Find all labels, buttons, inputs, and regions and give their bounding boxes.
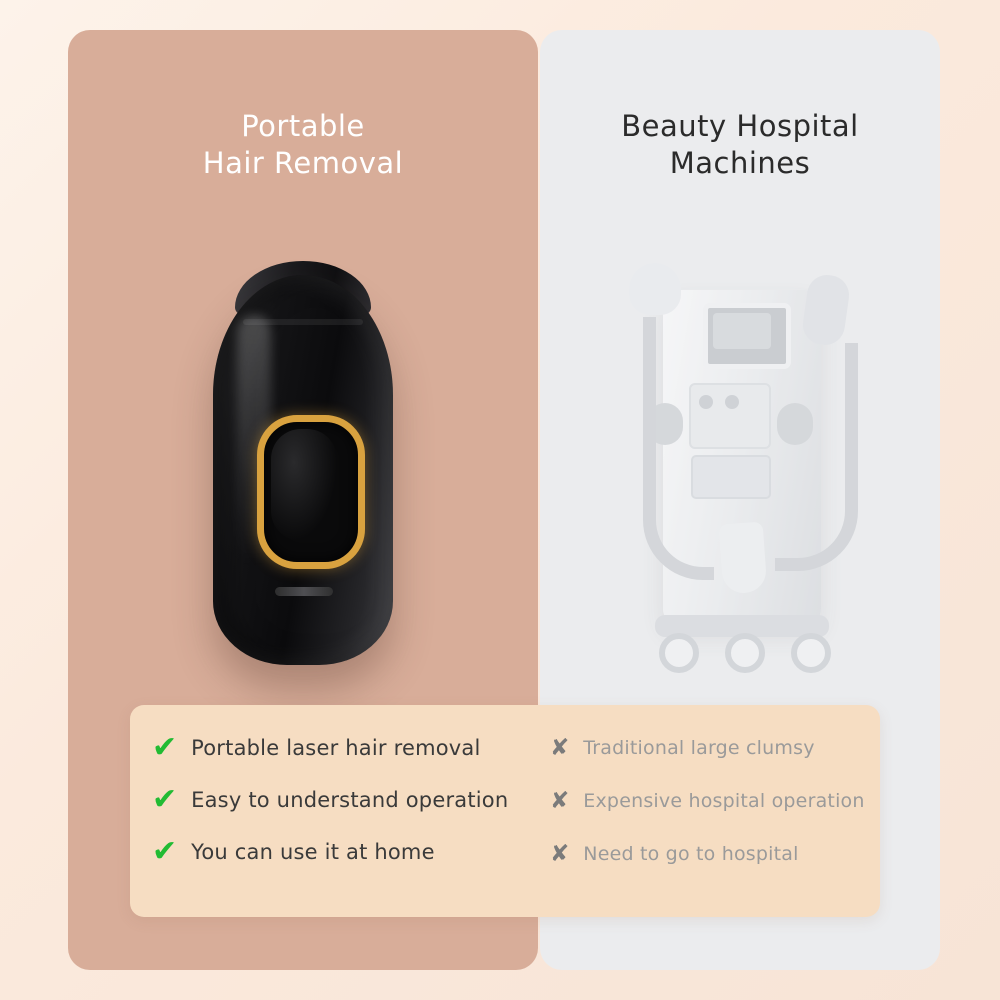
device-flash-window [271, 429, 337, 541]
cross-icon: ✘ [550, 843, 569, 866]
hospital-machine-image [625, 255, 855, 675]
pro-item-2-label: Easy to understand operation [191, 788, 508, 812]
left-title-line-1: Portable [68, 108, 538, 145]
con-item-3-label: Need to go to hospital [583, 843, 798, 865]
check-icon: ✔ [152, 837, 177, 867]
infographic-canvas: Portable Hair Removal Beauty Hospital Ma… [0, 0, 1000, 1000]
right-title-line-2: Machines [540, 145, 940, 182]
con-item-2-label: Expensive hospital operation [583, 790, 864, 812]
pro-item-1-label: Portable laser hair removal [191, 736, 480, 760]
pro-item-3: ✔ You can use it at home [152, 835, 532, 869]
machine-left-arm [629, 263, 681, 315]
pro-item-2: ✔ Easy to understand operation [152, 783, 532, 817]
con-item-1: ✘ Traditional large clumsy [550, 731, 870, 765]
pros-column: ✔ Portable laser hair removal ✔ Easy to … [152, 731, 532, 887]
left-panel-title: Portable Hair Removal [68, 108, 538, 182]
check-icon: ✔ [152, 785, 177, 815]
cons-column: ✘ Traditional large clumsy ✘ Expensive h… [550, 731, 870, 890]
device-button-strip [275, 587, 333, 596]
right-title-line-1: Beauty Hospital [540, 108, 940, 145]
pro-item-1: ✔ Portable laser hair removal [152, 731, 532, 765]
right-panel-title: Beauty Hospital Machines [540, 108, 940, 182]
machine-screen [713, 313, 771, 349]
machine-cable-left [643, 317, 714, 580]
machine-right-arm [800, 272, 851, 347]
machine-wheel-2 [725, 633, 765, 673]
con-item-2: ✘ Expensive hospital operation [550, 784, 870, 818]
machine-cable-right [775, 343, 858, 571]
cross-icon: ✘ [550, 790, 569, 813]
machine-handpiece [719, 522, 768, 595]
left-title-line-2: Hair Removal [68, 145, 538, 182]
con-item-1-label: Traditional large clumsy [583, 737, 814, 759]
machine-wheel-3 [791, 633, 831, 673]
pro-item-3-label: You can use it at home [191, 840, 435, 864]
portable-device-image [213, 275, 393, 665]
check-icon: ✔ [152, 733, 177, 763]
cross-icon: ✘ [550, 737, 569, 760]
machine-knob-2 [725, 395, 739, 409]
con-item-3: ✘ Need to go to hospital [550, 837, 870, 871]
machine-wheel-1 [659, 633, 699, 673]
features-comparison-card: ✔ Portable laser hair removal ✔ Easy to … [130, 705, 880, 917]
